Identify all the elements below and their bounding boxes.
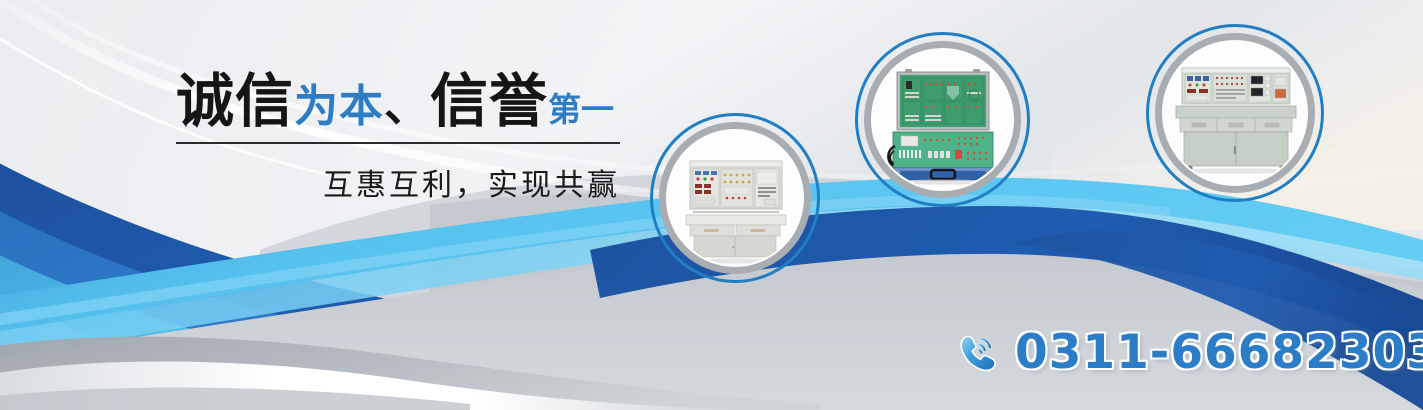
headline-part-3: 信誉	[430, 67, 548, 135]
page-title: 诚信为本、信誉第一	[176, 72, 636, 130]
promo-banner: 诚信为本、信誉第一 互惠互利，实现共赢	[0, 0, 1423, 410]
phone-number-text: 0311-66682303	[1015, 325, 1423, 380]
headline-subtitle: 互惠互利，实现共赢	[176, 160, 620, 204]
phone-handset-icon	[955, 330, 1001, 376]
headline-part-1: 诚信	[176, 67, 294, 135]
product-image-2	[873, 50, 1012, 189]
product-image-3	[1164, 42, 1306, 184]
product-image-1	[668, 131, 802, 265]
headline-divider	[176, 142, 620, 144]
headline-separator: 、	[384, 79, 430, 132]
contact-phone[interactable]: 0311-66682303	[955, 325, 1423, 380]
headline-part-2: 为本	[294, 81, 384, 132]
headline-part-4: 第一	[548, 90, 614, 129]
headline-block: 诚信为本、信誉第一 互惠互利，实现共赢	[176, 72, 636, 204]
